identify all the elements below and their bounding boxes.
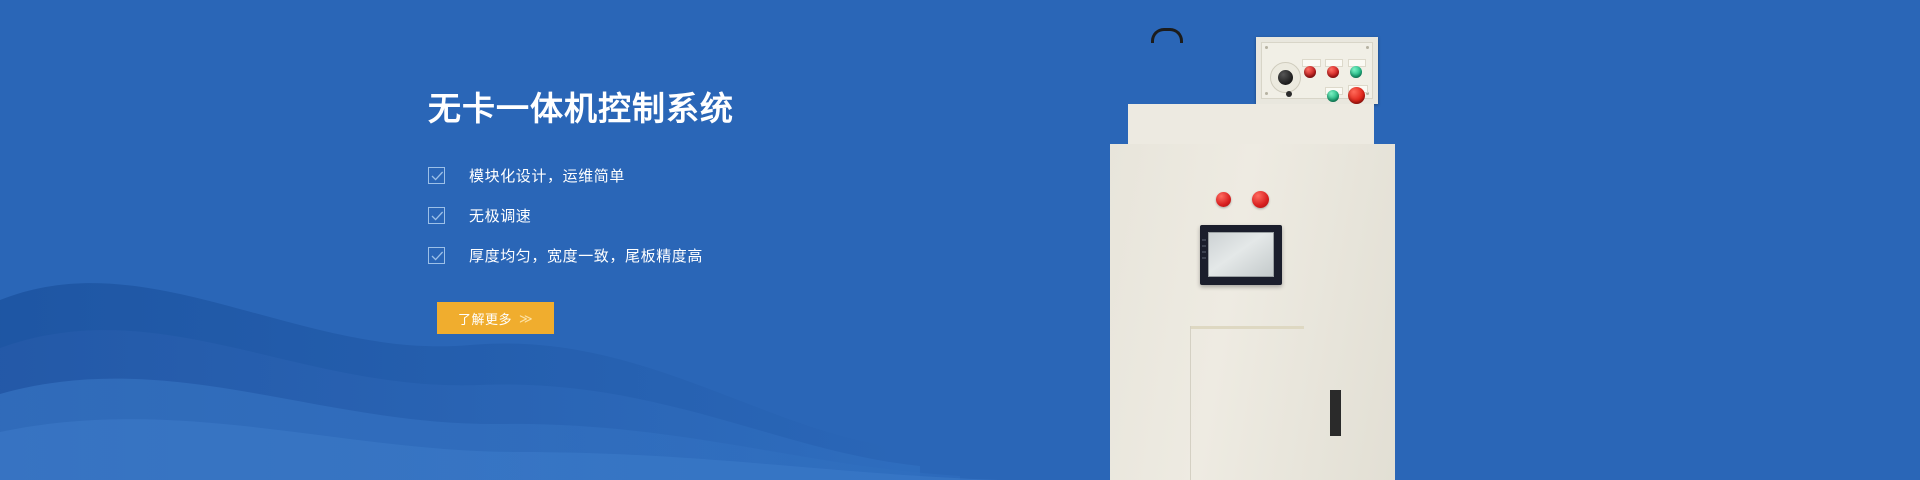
indicator-lamp-right[interactable] (1252, 191, 1269, 208)
cabinet-top-cap (1128, 104, 1374, 144)
upper-control-box (1256, 37, 1378, 104)
learn-more-button[interactable]: 了解更多 ≫ (437, 302, 554, 334)
control-face-plate (1261, 42, 1373, 99)
feature-label: 模块化设计，运维简单 (469, 165, 625, 186)
check-icon (428, 207, 445, 224)
power-lamp[interactable] (1350, 66, 1362, 78)
selector-knob[interactable] (1270, 62, 1301, 93)
check-icon (428, 247, 445, 264)
carry-handle (1151, 28, 1183, 43)
feature-list: 模块化设计，运维简单 无极调速 厚度均匀，宽度一致，尾板精度高 (428, 163, 988, 267)
emergency-stop[interactable] (1348, 87, 1365, 104)
learn-more-label: 了解更多 (458, 309, 512, 328)
indicator-lamp-left[interactable] (1216, 192, 1231, 207)
alarm-lamp[interactable] (1304, 66, 1316, 78)
list-item: 厚度均匀，宽度一致，尾板精度高 (428, 243, 988, 267)
hero-content: 无卡一体机控制系统 模块化设计，运维简单 无极调速 (428, 88, 988, 334)
hmi-function-keys[interactable] (1202, 239, 1206, 265)
hmi-display (1208, 232, 1274, 277)
control-cabinet-photo (1100, 0, 1440, 480)
screw (1265, 92, 1268, 95)
list-item: 模块化设计，运维简单 (428, 163, 988, 187)
screw (1265, 46, 1268, 49)
check-icon (428, 167, 445, 184)
cabinet-trim (1190, 326, 1304, 329)
hero-banner: 无卡一体机控制系统 模块化设计，运维简单 无极调速 (0, 0, 1920, 480)
screw (1366, 46, 1369, 49)
ventilation-slot (1330, 390, 1341, 436)
cabinet-door-seam (1190, 326, 1191, 480)
toggle-switch[interactable] (1286, 91, 1292, 97)
touch-screen-panel[interactable] (1200, 225, 1282, 285)
page-title: 无卡一体机控制系统 (428, 88, 988, 129)
feature-label: 厚度均匀，宽度一致，尾板精度高 (469, 245, 703, 266)
run-lamp[interactable] (1327, 66, 1339, 78)
chevron-right-double-icon: ≫ (519, 312, 533, 325)
feature-label: 无极调速 (469, 205, 531, 226)
list-item: 无极调速 (428, 203, 988, 227)
start-lamp[interactable] (1327, 90, 1339, 102)
